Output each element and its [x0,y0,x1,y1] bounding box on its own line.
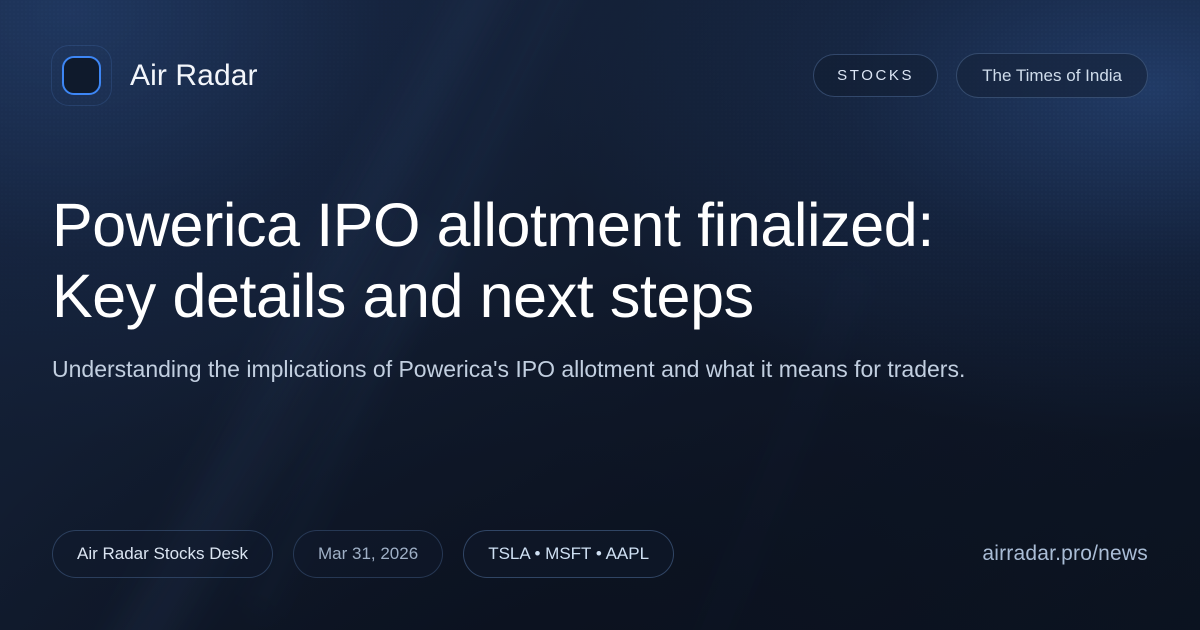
card-body: Powerica IPO allotment finalized: Key de… [52,190,1062,385]
date-badge[interactable]: Mar 31, 2026 [293,530,443,578]
card-header: Air Radar STOCKS The Times of India [52,46,1148,105]
logo-inner-shape [62,56,101,95]
rounded-square-logo-icon [52,46,111,105]
author-badge[interactable]: Air Radar Stocks Desk [52,530,273,578]
brand-name: Air Radar [130,59,258,93]
page-subtitle: Understanding the implications of Poweri… [52,354,1012,386]
footer-badges: Air Radar Stocks Desk Mar 31, 2026 TSLA … [52,530,674,578]
card-footer: Air Radar Stocks Desk Mar 31, 2026 TSLA … [52,530,1148,578]
category-badge[interactable]: STOCKS [813,54,938,97]
tickers-badge[interactable]: TSLA • MSFT • AAPL [463,530,674,578]
header-badges: STOCKS The Times of India [813,53,1148,98]
site-url[interactable]: airradar.pro/news [982,542,1148,566]
page-title: Powerica IPO allotment finalized: Key de… [52,190,1062,332]
social-share-card: Air Radar STOCKS The Times of India Powe… [0,0,1200,630]
source-badge[interactable]: The Times of India [956,53,1148,98]
brand-lockup[interactable]: Air Radar [52,46,258,105]
